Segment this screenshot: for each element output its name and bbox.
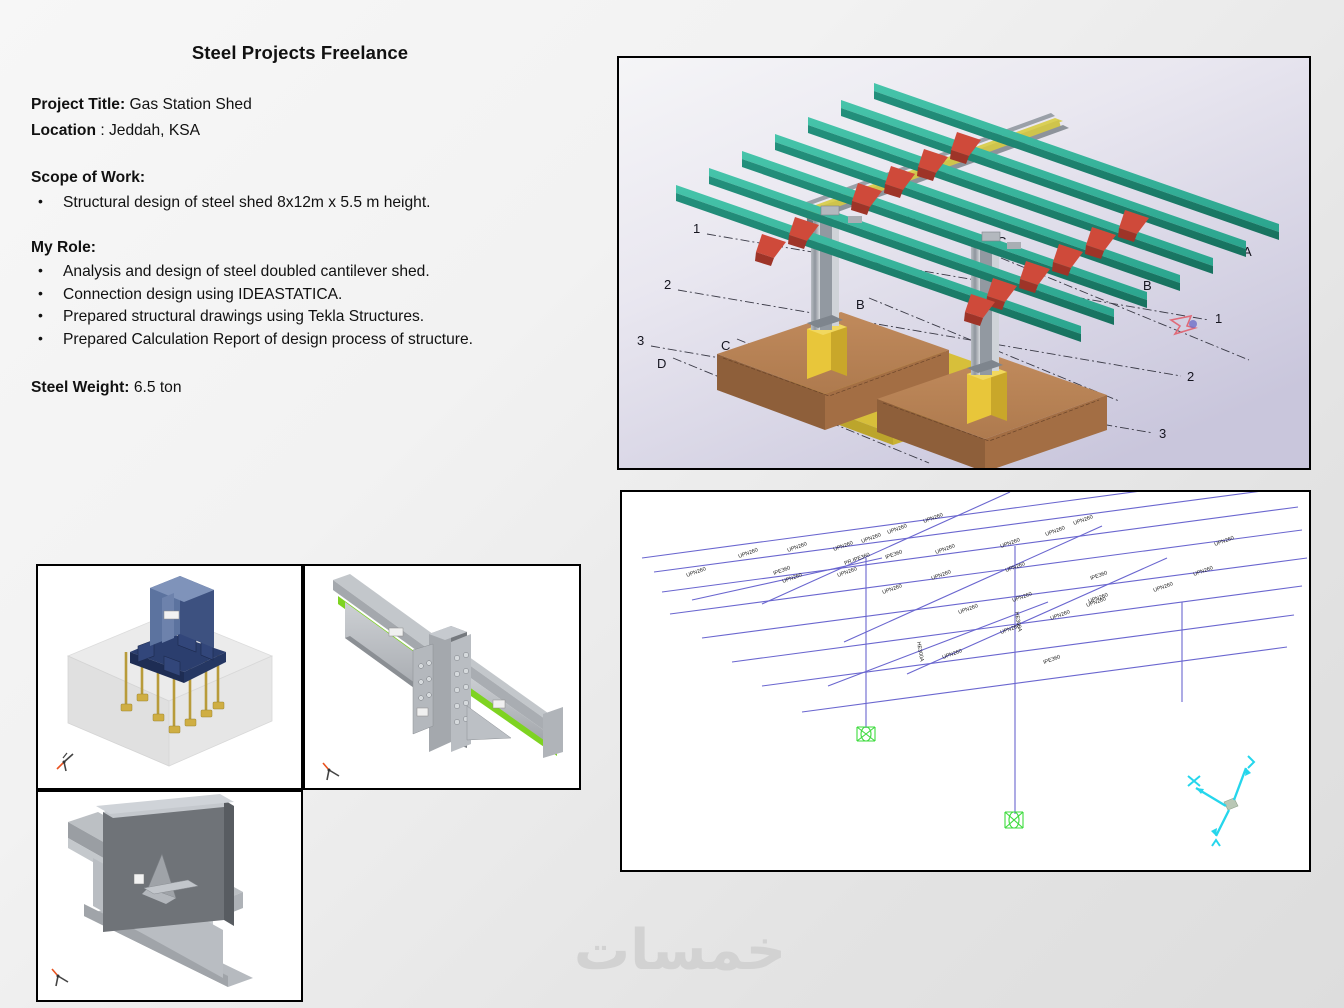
location-value: : Jeddah, KSA xyxy=(100,122,200,139)
scope-heading: Scope of Work: xyxy=(31,168,145,188)
baseplate-panel xyxy=(36,564,303,790)
role-item-label: Connection design using IDEASTATICA. xyxy=(63,286,342,304)
role-item-label: Prepared Calculation Report of design pr… xyxy=(63,331,473,349)
web-plate-left xyxy=(413,644,433,734)
grid-label-D: D xyxy=(657,356,666,371)
role-item: • Prepared structural drawings using Tek… xyxy=(38,308,424,326)
beam-connection-panel xyxy=(36,790,303,1002)
bullet-icon: • xyxy=(38,307,43,323)
scope-item: • Structural design of steel shed 8x12m … xyxy=(38,194,431,212)
main-girder-web xyxy=(103,800,234,932)
grid-label-2-right: 2 xyxy=(1187,369,1194,384)
part-mark-tag xyxy=(134,874,144,884)
moment-connection-panel xyxy=(303,564,581,790)
project-title-label: Project Title: xyxy=(31,96,125,113)
grid-label-3-right: 3 xyxy=(1159,426,1166,441)
role-item: • Prepared Calculation Report of design … xyxy=(38,331,473,349)
steel-weight-value: 6.5 ton xyxy=(134,379,182,396)
grid-label-2: 2 xyxy=(664,277,671,292)
bullet-icon: • xyxy=(38,285,43,301)
render-3d-panel: 1 2 3 D C B A 1 2 3 B A D C xyxy=(617,56,1311,470)
part-mark-tag xyxy=(389,628,403,636)
bullet-icon: • xyxy=(38,193,43,209)
part-mark-tag xyxy=(493,700,505,708)
grid-label-B: B xyxy=(856,297,865,312)
baseplate-connection-image xyxy=(38,566,301,788)
project-title-line: Project Title: Gas Station Shed xyxy=(31,95,252,115)
wireframe-background xyxy=(622,492,1309,870)
role-item: • Analysis and design of steel doubled c… xyxy=(38,263,430,281)
location-line: Location : Jeddah, KSA xyxy=(31,121,200,141)
scope-item-label: Structural design of steel shed 8x12m x … xyxy=(63,194,431,212)
steel-weight-line: Steel Weight: 6.5 ton xyxy=(31,378,182,398)
project-title-value: Gas Station Shed xyxy=(130,96,252,113)
project-description-column: Steel Projects Freelance Project Title: … xyxy=(0,0,600,470)
slide-root: Steel Projects Freelance Project Title: … xyxy=(0,0,1344,1008)
render-3d-image: 1 2 3 D C B A 1 2 3 B A D C xyxy=(619,58,1309,468)
grid-label-1: 1 xyxy=(693,221,700,236)
bullet-icon: • xyxy=(38,330,43,346)
wireframe-image: UPN260UPN260UPN260UPN260IPE360UPN260UPN2… xyxy=(622,492,1309,870)
role-heading: My Role: xyxy=(31,238,96,258)
steel-weight-label: Steel Weight: xyxy=(31,379,129,396)
grid-label-3: 3 xyxy=(637,333,644,348)
watermark: خمسات xyxy=(520,915,840,985)
grid-label-1-right: 1 xyxy=(1215,311,1222,326)
beam-connection-image xyxy=(38,792,301,1000)
page-title: Steel Projects Freelance xyxy=(0,42,600,64)
part-mark-tag xyxy=(164,611,179,619)
role-item-label: Prepared structural drawings using Tekla… xyxy=(63,308,424,326)
location-label: Location xyxy=(31,122,96,139)
bullet-icon: • xyxy=(38,262,43,278)
part-mark-tag xyxy=(417,708,428,716)
role-item-label: Analysis and design of steel doubled can… xyxy=(63,263,430,281)
role-item: • Connection design using IDEASTATICA. xyxy=(38,286,342,304)
moment-connection-image xyxy=(305,566,579,788)
wireframe-panel: UPN260UPN260UPN260UPN260IPE360UPN260UPN2… xyxy=(620,490,1311,872)
